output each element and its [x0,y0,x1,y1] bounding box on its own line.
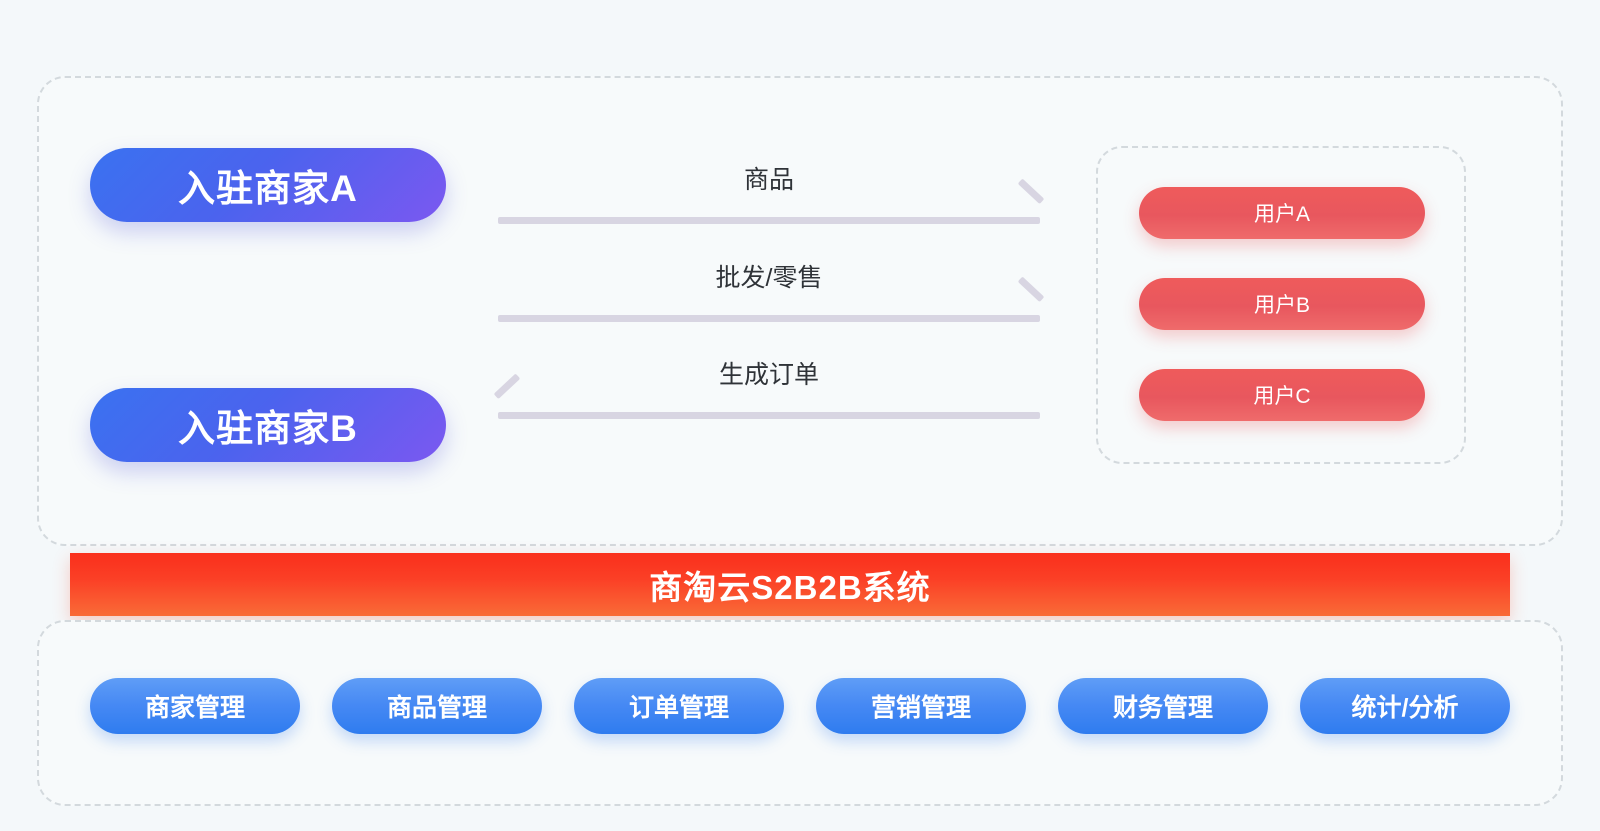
merchant-pill-b[interactable]: 入驻商家B [90,388,446,462]
user-pill-c[interactable]: 用户C [1139,369,1425,421]
flow-arrow-create-order: 生成订单 [498,360,1040,430]
merchant-b-label: 入驻商家B [178,398,358,452]
user-pill-b[interactable]: 用户B [1139,278,1425,330]
flow-label-create-order: 生成订单 [498,360,1040,390]
module-pill-product-management[interactable]: 商品管理 [332,678,542,734]
merchant-pill-a[interactable]: 入驻商家A [90,148,446,222]
merchant-a-label: 入驻商家A [178,158,358,212]
flow-line-wholesale-retail [498,315,1040,322]
modules-row: 商家管理 商品管理 订单管理 营销管理 财务管理 统计/分析 [90,678,1510,734]
flow-label-wholesale-retail: 批发/零售 [498,263,1040,293]
module-pill-finance-management[interactable]: 财务管理 [1058,678,1268,734]
module-label-product-management: 商品管理 [387,688,487,724]
module-label-finance-management: 财务管理 [1113,688,1213,724]
user-c-label: 用户C [1253,380,1310,410]
flow-arrow-wholesale-retail: 批发/零售 [498,263,1040,333]
module-label-marketing-management: 营销管理 [871,688,971,724]
user-pill-a[interactable]: 用户A [1139,187,1425,239]
module-pill-marketing-management[interactable]: 营销管理 [816,678,1026,734]
module-label-statistics-analysis: 统计/分析 [1352,688,1459,724]
module-label-merchant-management: 商家管理 [145,688,245,724]
module-pill-merchant-management[interactable]: 商家管理 [90,678,300,734]
flow-line-goods [498,217,1040,224]
module-label-order-management: 订单管理 [629,688,729,724]
flow-line-create-order [498,412,1040,419]
flow-arrow-goods: 商品 [498,165,1040,235]
module-pill-statistics-analysis[interactable]: 统计/分析 [1300,678,1510,734]
user-a-label: 用户A [1254,198,1310,228]
system-banner: 商淘云S2B2B系统 [70,553,1510,616]
s2b2b-architecture-diagram: 入驻商家A 入驻商家B 商品 批发/零售 生成订单 用户A 用户B 用户C 商淘… [0,0,1600,831]
module-pill-order-management[interactable]: 订单管理 [574,678,784,734]
user-b-label: 用户B [1254,289,1310,319]
system-banner-label: 商淘云S2B2B系统 [649,561,930,609]
flow-label-goods: 商品 [498,165,1040,195]
